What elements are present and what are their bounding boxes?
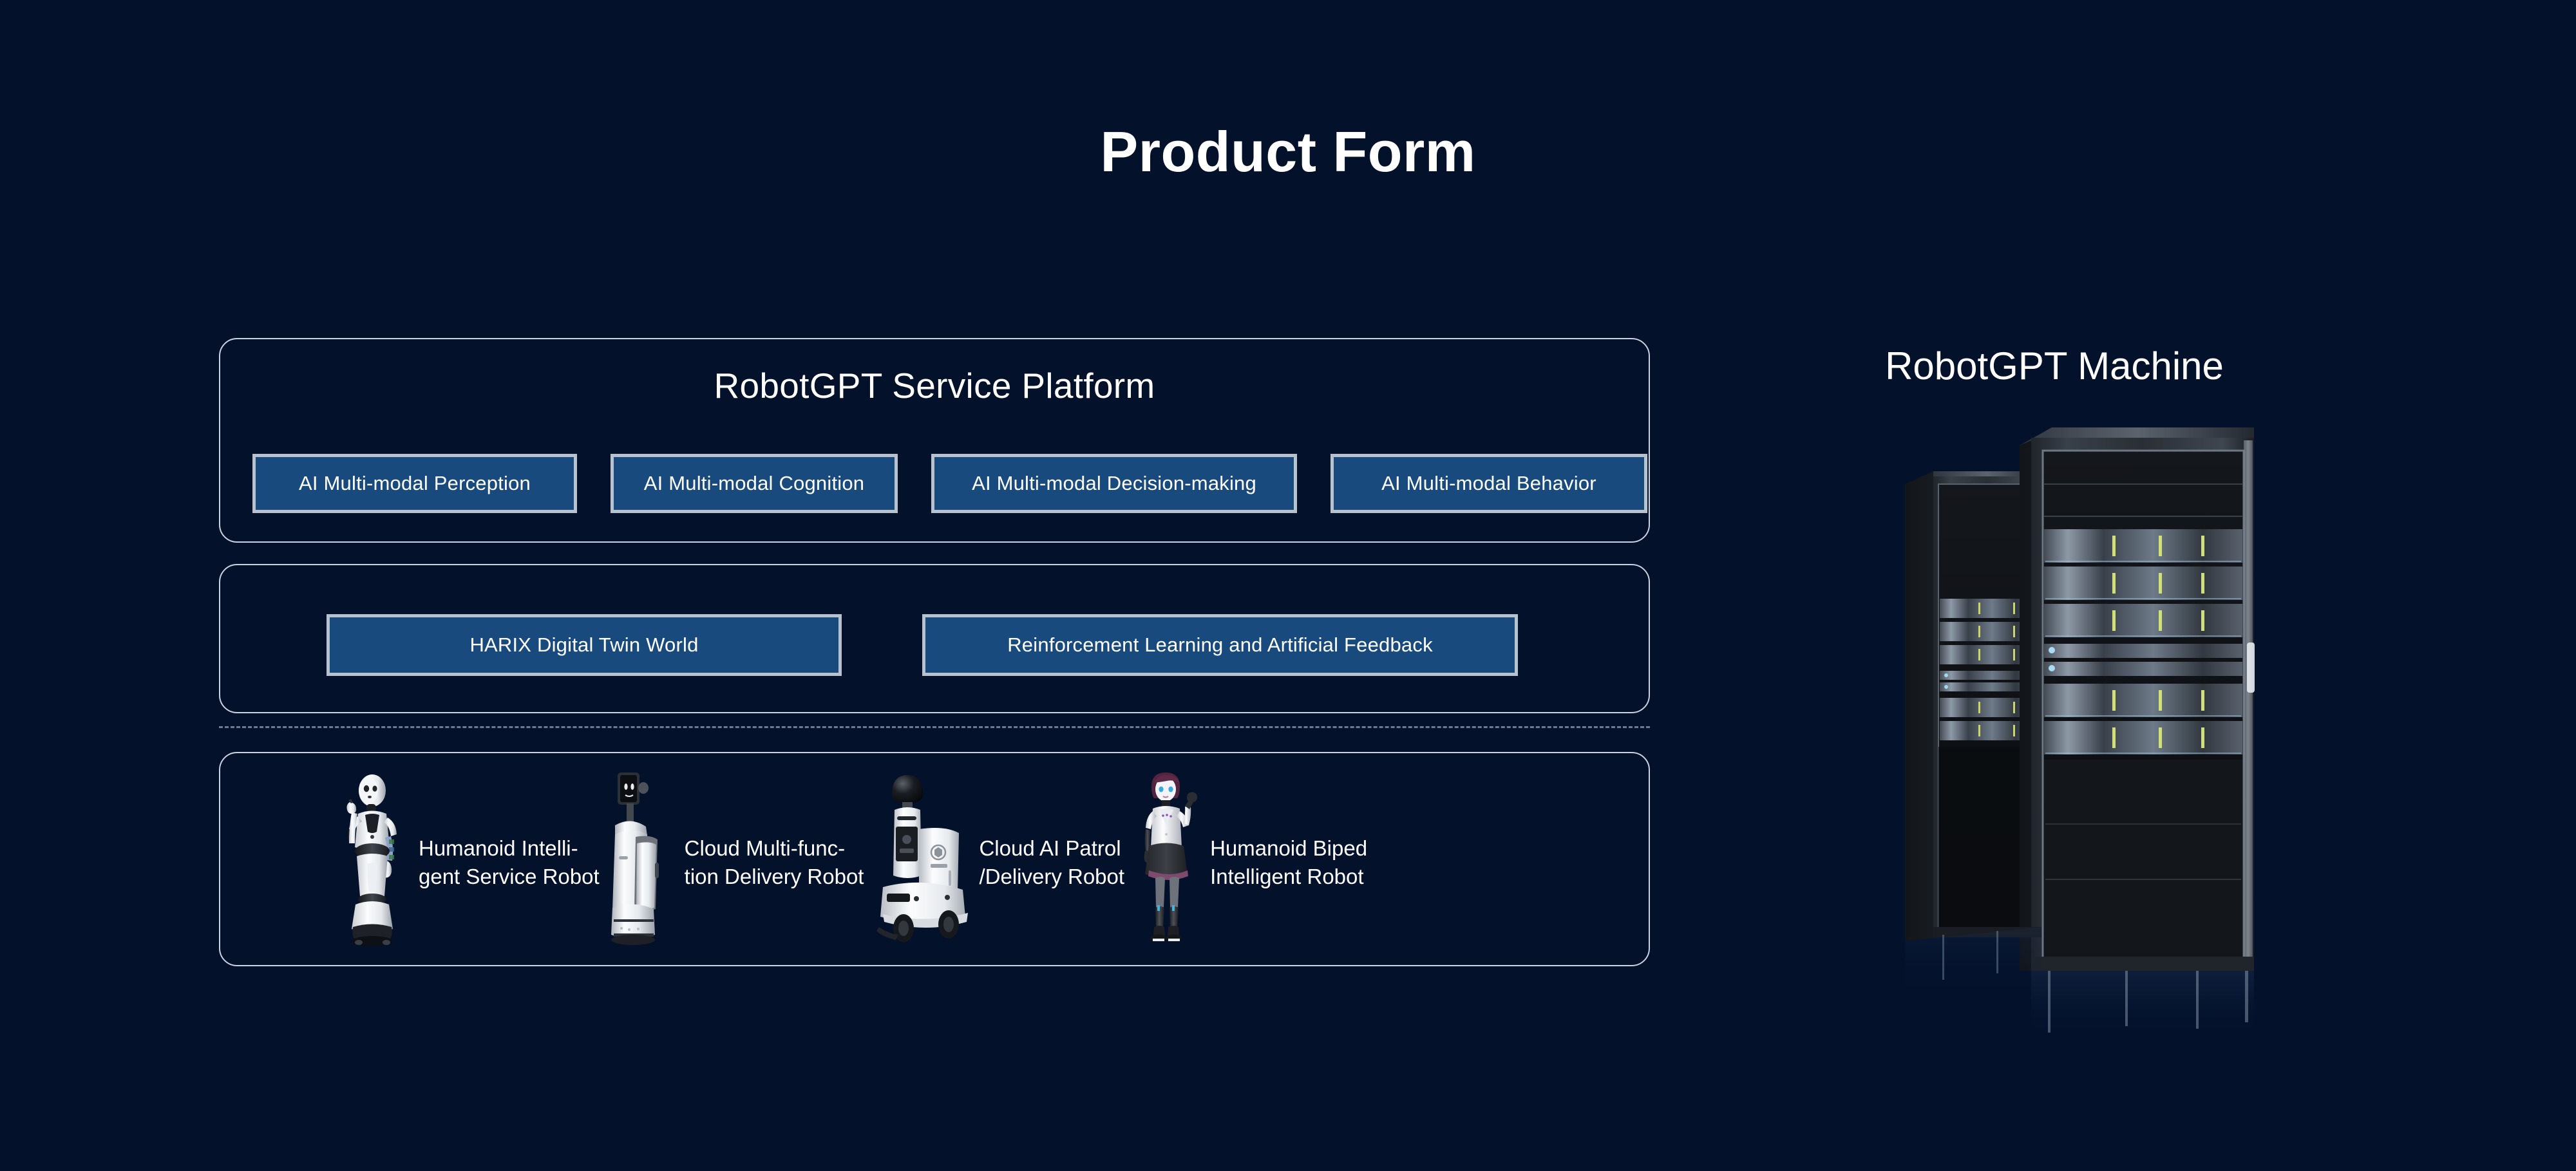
- platform-panel-title: RobotGPT Service Platform: [220, 365, 1649, 406]
- list-item[interactable]: Humanoid Intelli- gent Service Robot: [330, 767, 600, 957]
- harix-chip-row: HARIX Digital Twin World Reinforcement L…: [327, 614, 1518, 676]
- list-item-label: Humanoid Biped Intelligent Robot: [1210, 834, 1367, 890]
- panel-divider: [219, 726, 1650, 728]
- cloud-delivery-robot-icon: [602, 767, 679, 957]
- chip-ai-behavior[interactable]: AI Multi-modal Behavior: [1331, 454, 1647, 513]
- ai-capability-chip-row: AI Multi-modal Perception AI Multi-modal…: [252, 454, 1647, 513]
- chip-ai-decision-making[interactable]: AI Multi-modal Decision-making: [931, 454, 1297, 513]
- page-title: Product Form: [0, 119, 2576, 185]
- robots-panel: Humanoid Intelli- gent Service Robot: [219, 752, 1650, 966]
- chip-reinforcement-learning[interactable]: Reinforcement Learning and Artificial Fe…: [922, 614, 1518, 676]
- robot-list: Humanoid Intelli- gent Service Robot: [330, 767, 1367, 957]
- machine-title: RobotGPT Machine: [1797, 344, 2312, 388]
- chip-ai-perception[interactable]: AI Multi-modal Perception: [252, 454, 577, 513]
- list-item-label: Cloud AI Patrol /Delivery Robot: [979, 834, 1124, 890]
- chip-ai-cognition[interactable]: AI Multi-modal Cognition: [611, 454, 898, 513]
- cloud-patrol-robot-icon: [867, 767, 974, 957]
- humanoid-service-robot-icon: [330, 767, 413, 957]
- humanoid-biped-robot-icon: [1131, 767, 1205, 957]
- chip-harix-digital-twin[interactable]: HARIX Digital Twin World: [327, 614, 842, 676]
- list-item-label: Humanoid Intelli- gent Service Robot: [419, 834, 600, 890]
- list-item-label: Cloud Multi-func- tion Delivery Robot: [685, 834, 864, 890]
- harix-panel: HARIX Digital Twin World Reinforcement L…: [219, 564, 1650, 713]
- slide-root: Product Form RobotGPT Service Platform A…: [0, 0, 2576, 1171]
- list-item[interactable]: Cloud AI Patrol /Delivery Robot: [867, 767, 1124, 957]
- list-item[interactable]: Humanoid Biped Intelligent Robot: [1131, 767, 1367, 957]
- list-item[interactable]: Cloud Multi-func- tion Delivery Robot: [602, 767, 864, 957]
- server-rack-icon: [1893, 412, 2260, 1043]
- platform-panel: RobotGPT Service Platform AI Multi-modal…: [219, 338, 1650, 543]
